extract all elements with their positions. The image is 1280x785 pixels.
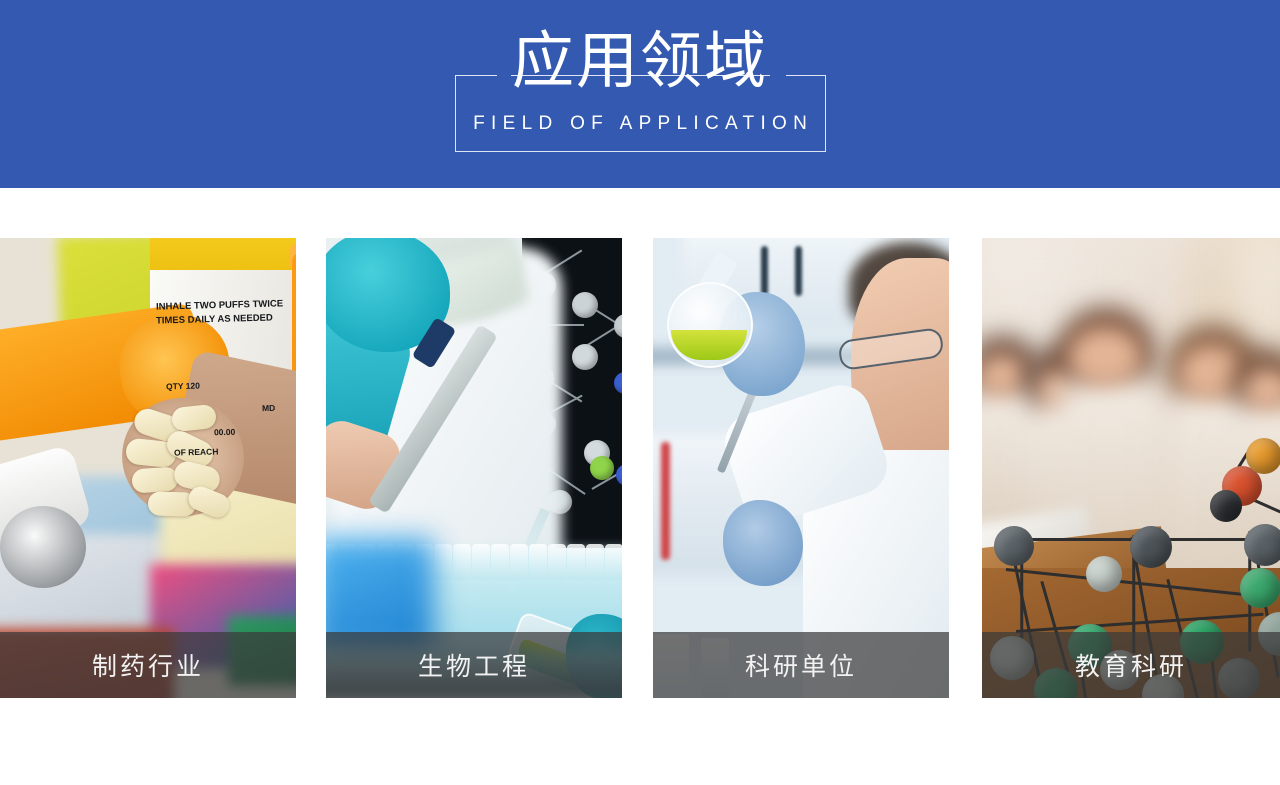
molecule-atom (572, 344, 598, 370)
molecule-atom (590, 456, 614, 480)
culture-vial (472, 544, 490, 580)
culture-vial (491, 544, 509, 580)
model-atom-ball (1240, 568, 1280, 608)
card-label-bioengineering: 生物工程 (418, 647, 530, 683)
capsule (185, 483, 233, 521)
card-caption-band: 生物工程 (326, 632, 622, 698)
molecule-atom (614, 372, 622, 394)
model-atom-ball (994, 526, 1034, 566)
pill-bottle-label-text: QTY 120 (166, 380, 200, 393)
pill-bottle-label-text: 00.00 (214, 426, 236, 439)
application-card-education-research[interactable]: 教育科研 (982, 238, 1280, 698)
model-atom-ball (1086, 556, 1122, 592)
card-caption-band: 科研单位 (653, 632, 949, 698)
cabinet-handle (761, 246, 768, 296)
culture-vial (510, 544, 528, 580)
page-subtitle: FIELD OF APPLICATION (0, 111, 1280, 137)
card-photo-bioengineering (326, 238, 622, 698)
culture-vial (529, 544, 547, 580)
lab-tube-red (661, 442, 670, 560)
model-atom-ball (1246, 438, 1280, 474)
pill-bottle-label-text: TIMES DAILY AS NEEDED (156, 312, 273, 327)
model-atom-ball (1244, 524, 1280, 566)
page-title: 应用领域 (0, 26, 1280, 98)
application-field-card-grid: INHALE TWO PUFFS TWICETIMES DAILY AS NEE… (0, 238, 1280, 698)
culture-vial (548, 544, 566, 580)
application-card-bioengineering[interactable]: 生物工程 (326, 238, 622, 698)
card-photo-research-institute (653, 238, 949, 698)
card-label-education-research: 教育科研 (1075, 647, 1187, 683)
card-photo-pharmaceutical: INHALE TWO PUFFS TWICETIMES DAILY AS NEE… (0, 238, 296, 698)
page-banner: 应用领域 FIELD OF APPLICATION (0, 0, 1280, 188)
card-caption-band: 制药行业 (0, 632, 296, 698)
pill-bottle-label-text: OF REACH (174, 445, 219, 458)
application-card-research-institute[interactable]: 科研单位 (653, 238, 949, 698)
molecule-atom (614, 314, 622, 338)
molecule-atom (616, 464, 622, 486)
card-label-research-institute: 科研单位 (745, 647, 857, 683)
model-atom-ball (1130, 526, 1172, 568)
card-caption-band: 教育科研 (982, 632, 1280, 698)
card-photo-education-research (982, 238, 1280, 698)
cabinet-handle (795, 246, 802, 296)
culture-vial (567, 544, 585, 580)
pill-bottle-label-text: MD (262, 402, 276, 414)
application-card-pharmaceutical[interactable]: INHALE TWO PUFFS TWICETIMES DAILY AS NEE… (0, 238, 296, 698)
capsule (131, 466, 179, 493)
model-atom-ball (1210, 490, 1242, 522)
molecule-atom (572, 292, 598, 318)
card-label-pharmaceutical: 制药行业 (92, 647, 204, 683)
molecular-model-graphic (982, 238, 1280, 698)
culture-vial (605, 544, 622, 580)
culture-vial (453, 544, 471, 580)
culture-vial (434, 544, 452, 580)
pill-bottle-label-text: INHALE TWO PUFFS TWICE (156, 298, 283, 313)
culture-vial (586, 544, 604, 580)
